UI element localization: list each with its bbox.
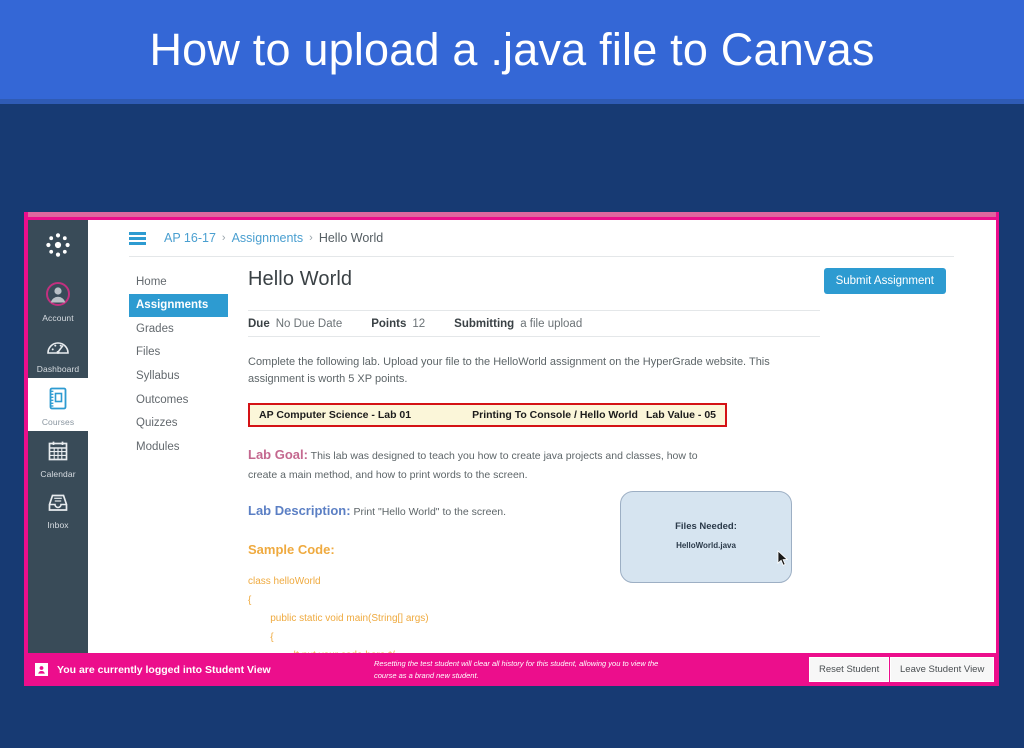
sidebar-item-inbox[interactable]: Inbox	[28, 483, 88, 534]
sidebar-item-inbox-label: Inbox	[47, 520, 68, 530]
account-avatar-icon	[46, 282, 70, 311]
assignment-description: Complete the following lab. Upload your …	[248, 354, 820, 388]
files-needed-title: Files Needed:	[621, 521, 791, 532]
sidebar-item-account-label: Account	[42, 313, 73, 323]
sidebar-item-courses[interactable]: Courses	[28, 378, 88, 431]
breadcrumb-separator: ›	[309, 232, 313, 244]
lab-value-label: Lab Value - 05	[646, 409, 716, 421]
sample-code-label: Sample Code:	[248, 542, 335, 557]
due-label: Due	[248, 318, 270, 330]
canvas-browser-window: Account Dashboard	[24, 212, 999, 686]
courses-book-icon	[47, 387, 69, 415]
sidebar-item-calendar-label: Calendar	[40, 469, 75, 479]
hamburger-icon[interactable]	[129, 232, 146, 245]
course-nav-item-grades[interactable]: Grades	[129, 317, 228, 341]
course-nav-item-syllabus[interactable]: Syllabus	[129, 365, 228, 389]
sidebar-item-dashboard-label: Dashboard	[37, 364, 79, 374]
sidebar-item-calendar[interactable]: Calendar	[28, 431, 88, 483]
lab-topic-label: Printing To Console / Hello World	[472, 409, 638, 421]
sidebar-item-account[interactable]: Account	[28, 273, 88, 327]
canvas-logo-icon	[45, 232, 71, 263]
assignment-header: Hello World Submit Assignment	[248, 268, 958, 310]
lab-goal-block: Lab Goal: This lab was designed to teach…	[248, 446, 718, 484]
due-value: No Due Date	[276, 318, 342, 330]
assignment-meta: Due No Due Date Points 12 Submitting a f…	[248, 311, 958, 336]
slide-title-banner: How to upload a .java file to Canvas	[0, 0, 1024, 99]
sidebar-item-dashboard[interactable]: Dashboard	[28, 327, 88, 378]
assignment-content: Hello World Submit Assignment Due No Due…	[248, 268, 958, 686]
course-nav-item-modules[interactable]: Modules	[129, 435, 228, 459]
breadcrumb-item-assignments[interactable]: Assignments	[232, 231, 304, 245]
global-navigation: Account Dashboard	[28, 220, 88, 686]
breadcrumb-divider	[129, 256, 954, 257]
lab-sections: Lab Goal: This lab was designed to teach…	[248, 446, 820, 686]
canvas-content-area: AP 16-17 › Assignments › Hello World Hom…	[88, 220, 996, 686]
breadcrumb-item-course[interactable]: AP 16-17	[164, 231, 216, 245]
files-needed-box: Files Needed: HelloWorld.java	[620, 491, 792, 583]
sidebar-item-courses-label: Courses	[42, 417, 74, 427]
window-left-accent	[24, 212, 28, 686]
student-view-message: You are currently logged into Student Vi…	[57, 664, 271, 676]
breadcrumb-item-current: Hello World	[319, 231, 383, 245]
course-navigation: Home Assignments Grades Files Syllabus O…	[129, 270, 228, 459]
reset-student-button[interactable]: Reset Student	[809, 657, 889, 682]
submit-assignment-button[interactable]: Submit Assignment	[824, 268, 946, 294]
page-title: How to upload a .java file to Canvas	[149, 24, 874, 76]
files-needed-filename: HelloWorld.java	[621, 541, 791, 550]
window-right-accent	[996, 212, 999, 686]
lab-course-label: AP Computer Science - Lab 01	[259, 409, 411, 421]
course-nav-item-assignments[interactable]: Assignments	[129, 294, 228, 318]
submitting-value: a file upload	[520, 318, 582, 330]
banner-underline	[0, 99, 1024, 104]
calendar-icon	[47, 440, 69, 467]
points-label: Points	[371, 318, 406, 330]
student-view-bar: You are currently logged into Student Vi…	[24, 653, 999, 686]
lab-goal-label: Lab Goal:	[248, 447, 308, 462]
lab-description-label: Lab Description:	[248, 503, 351, 518]
course-nav-item-quizzes[interactable]: Quizzes	[129, 412, 228, 436]
submitting-label: Submitting	[454, 318, 514, 330]
assignment-meta-divider-bottom	[248, 336, 820, 337]
assignment-title: Hello World	[248, 268, 352, 291]
student-view-note: Resetting the test student will clear al…	[374, 658, 674, 681]
inbox-icon	[47, 492, 69, 518]
breadcrumb: AP 16-17 › Assignments › Hello World	[88, 220, 996, 256]
student-person-icon	[35, 663, 48, 676]
dashboard-icon	[46, 336, 70, 362]
lab-goal-text: This lab was designed to teach you how t…	[248, 450, 698, 481]
leave-student-view-button[interactable]: Leave Student View	[890, 657, 994, 682]
lab-header-banner: AP Computer Science - Lab 01 Printing To…	[248, 403, 727, 427]
course-nav-item-files[interactable]: Files	[129, 341, 228, 365]
points-value: 12	[412, 318, 425, 330]
course-nav-item-outcomes[interactable]: Outcomes	[129, 388, 228, 412]
course-nav-item-home[interactable]: Home	[129, 270, 228, 294]
breadcrumb-separator: ›	[222, 232, 226, 244]
canvas-logo-button[interactable]	[28, 220, 88, 273]
lab-description-text: Print "Hello World" to the screen.	[351, 506, 507, 518]
